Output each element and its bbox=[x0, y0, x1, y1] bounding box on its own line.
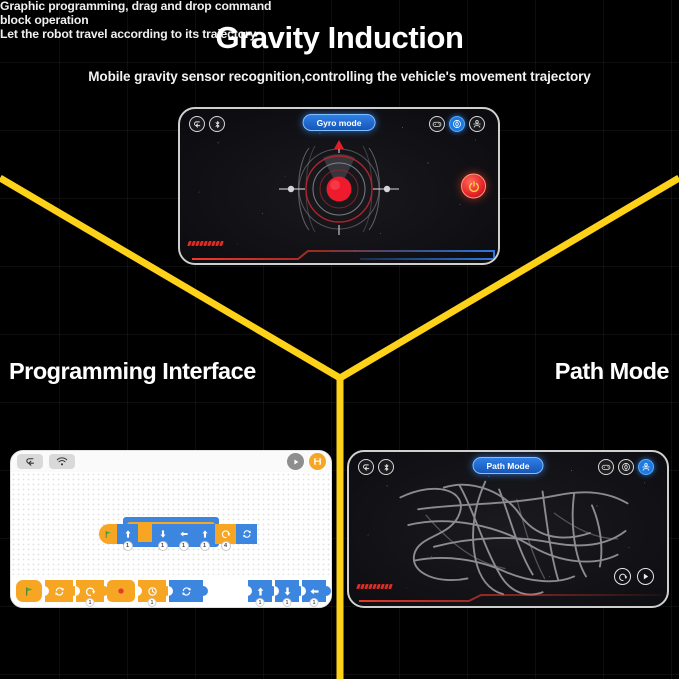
palette-block-repeat-blue[interactable] bbox=[169, 580, 203, 602]
block-repeat[interactable] bbox=[236, 524, 257, 544]
palette-block-turn-ccw[interactable]: 1 bbox=[76, 580, 104, 602]
block-palette[interactable]: 1 1 1 1 1 bbox=[11, 575, 331, 607]
red-dash-indicators bbox=[188, 241, 223, 246]
palette-block-value[interactable]: 1 bbox=[256, 598, 265, 607]
gamepad-mode-icon[interactable] bbox=[598, 459, 614, 475]
bluetooth-icon[interactable] bbox=[209, 116, 225, 132]
palette-block-value[interactable]: 1 bbox=[310, 598, 319, 607]
programming-interface-screen: 1 1 1 1 4 bbox=[10, 450, 332, 608]
path-section-title: Path Mode bbox=[555, 358, 669, 385]
programming-section-title: Programming Interface bbox=[9, 358, 256, 385]
palette-block-wait[interactable]: 1 bbox=[138, 580, 166, 602]
wifi-icon[interactable] bbox=[49, 454, 75, 469]
block-move-up[interactable]: 1 bbox=[117, 524, 138, 544]
block-value[interactable]: 1 bbox=[158, 541, 168, 551]
back-icon[interactable] bbox=[189, 116, 205, 132]
palette-block-value[interactable]: 1 bbox=[148, 598, 157, 607]
path-mode-device-screen: Path Mode bbox=[347, 450, 669, 608]
run-button[interactable] bbox=[287, 453, 304, 470]
block-move-down[interactable]: 1 bbox=[152, 524, 173, 544]
page-title: Gravity Induction bbox=[0, 20, 679, 56]
gyro-mode-pill[interactable]: Gyro mode bbox=[303, 114, 376, 131]
power-button[interactable] bbox=[461, 174, 486, 199]
gyro-radar-graphic[interactable] bbox=[275, 134, 403, 244]
path-mode-icon[interactable] bbox=[469, 116, 485, 132]
gyro-mode-icon[interactable] bbox=[449, 116, 465, 132]
block-move-up-2[interactable]: 1 bbox=[194, 524, 215, 544]
path-mode-pill[interactable]: Path Mode bbox=[473, 457, 544, 474]
gyro-mode-device-screen: Gyro mode bbox=[178, 107, 500, 265]
red-dash-indicators bbox=[357, 584, 392, 589]
programming-toolbar bbox=[11, 451, 331, 472]
gyro-mode-icon[interactable] bbox=[618, 459, 634, 475]
accent-bars bbox=[180, 233, 500, 263]
header: Gravity Induction Mobile gravity sensor … bbox=[0, 0, 679, 84]
block-move-left[interactable]: 1 bbox=[173, 524, 194, 544]
programming-canvas[interactable]: 1 1 1 1 4 bbox=[11, 472, 331, 575]
block-value[interactable]: 1 bbox=[179, 541, 189, 551]
palette-block-value[interactable]: 1 bbox=[86, 598, 95, 607]
block-turn-ccw[interactable]: 4 bbox=[215, 524, 236, 544]
accent-bars bbox=[349, 576, 669, 606]
palette-block-move-left[interactable]: 1 bbox=[302, 580, 326, 602]
palette-block-value[interactable]: 1 bbox=[283, 598, 292, 607]
page-subtitle: Mobile gravity sensor recognition,contro… bbox=[0, 69, 679, 84]
palette-block-move-down[interactable]: 1 bbox=[275, 580, 299, 602]
block-value[interactable]: 4 bbox=[221, 541, 231, 551]
gamepad-mode-icon[interactable] bbox=[429, 116, 445, 132]
palette-block-stop[interactable] bbox=[107, 580, 135, 602]
block-value[interactable]: 1 bbox=[200, 541, 210, 551]
block-script[interactable]: 1 1 1 1 4 bbox=[99, 524, 257, 544]
back-icon[interactable] bbox=[358, 459, 374, 475]
palette-block-move-up[interactable]: 1 bbox=[248, 580, 272, 602]
block-start-flag[interactable] bbox=[99, 524, 117, 544]
palette-block-start-flag[interactable] bbox=[16, 580, 42, 602]
palette-block-repeat-loop[interactable] bbox=[45, 580, 73, 602]
save-button[interactable] bbox=[309, 453, 326, 470]
bluetooth-icon[interactable] bbox=[378, 459, 394, 475]
block-value[interactable]: 1 bbox=[123, 541, 133, 551]
path-mode-icon[interactable] bbox=[638, 459, 654, 475]
undo-icon[interactable] bbox=[17, 454, 43, 469]
